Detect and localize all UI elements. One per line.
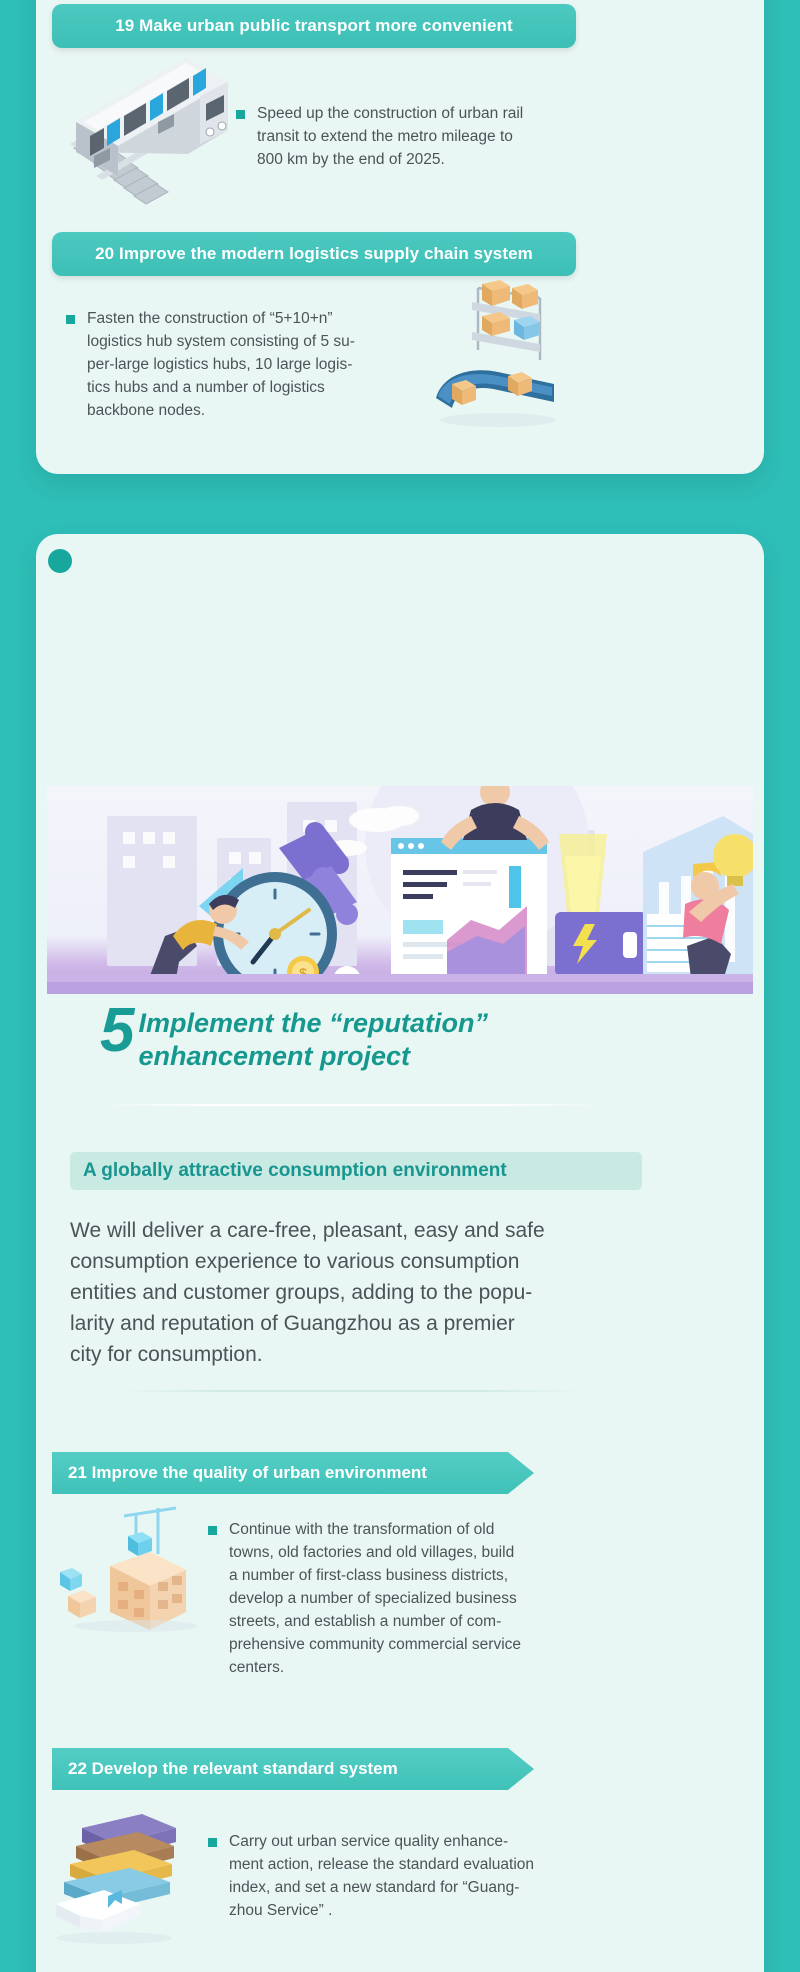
item-20-label: 20 Improve the modern logistics supply c…	[95, 244, 533, 264]
logistics-warehouse-illustration	[428, 280, 588, 430]
item-20-bullet-text: Fasten the construction of “5+10+n” logi…	[87, 307, 355, 422]
item-19-bullet-text: Speed up the construction of urban rail …	[257, 102, 523, 171]
section-heading: Implement the “reputation” enhancement p…	[138, 1002, 488, 1073]
bullet-marker-icon	[236, 110, 245, 119]
section-5-title: 5 Implement the “reputation” enhancement…	[100, 1002, 620, 1073]
paragraph-divider	[116, 1390, 586, 1392]
urban-renewal-crane-illustration	[58, 1502, 208, 1632]
item-21-bullet: Continue with the transformation of old …	[208, 1518, 578, 1679]
card-corner-dot-icon	[48, 549, 72, 573]
bullet-marker-icon	[66, 315, 75, 324]
infographic-page: 19 Make urban public transport more conv…	[0, 0, 800, 1972]
item-22-header: 22 Develop the relevant standard system	[52, 1748, 534, 1790]
section-title-divider	[105, 1104, 599, 1106]
item-19-label: 19 Make urban public transport more conv…	[115, 16, 513, 36]
bullet-marker-icon	[208, 1526, 217, 1535]
section-number: 5	[100, 1002, 132, 1060]
subtitle-bar: A globally attractive consumption enviro…	[70, 1152, 642, 1190]
item-22-bullet: Carry out urban service quality enhance-…	[208, 1830, 578, 1922]
item-21-bullet-text: Continue with the transformation of old …	[229, 1518, 521, 1679]
productivity-teamwork-illustration: $ $	[47, 786, 753, 994]
item-22-bullet-text: Carry out urban service quality enhance-…	[229, 1830, 534, 1922]
item-20-bullet: Fasten the construction of “5+10+n” logi…	[66, 307, 396, 422]
intro-paragraph: We will deliver a care-free, pleasant, e…	[70, 1215, 650, 1370]
stacked-books-illustration	[46, 1812, 206, 1952]
item-20-header: 20 Improve the modern logistics supply c…	[52, 232, 576, 276]
item-21-header: 21 Improve the quality of urban environm…	[52, 1452, 534, 1494]
item-21-label: 21 Improve the quality of urban environm…	[68, 1463, 427, 1483]
item-19-bullet: Speed up the construction of urban rail …	[236, 102, 576, 171]
metro-train-illustration	[50, 52, 250, 212]
bullet-marker-icon	[208, 1838, 217, 1847]
card-transport-logistics: 19 Make urban public transport more conv…	[36, 0, 764, 474]
item-22-label: 22 Develop the relevant standard system	[68, 1759, 398, 1779]
subtitle-label: A globally attractive consumption enviro…	[83, 1160, 507, 1182]
item-19-header: 19 Make urban public transport more conv…	[52, 4, 576, 48]
